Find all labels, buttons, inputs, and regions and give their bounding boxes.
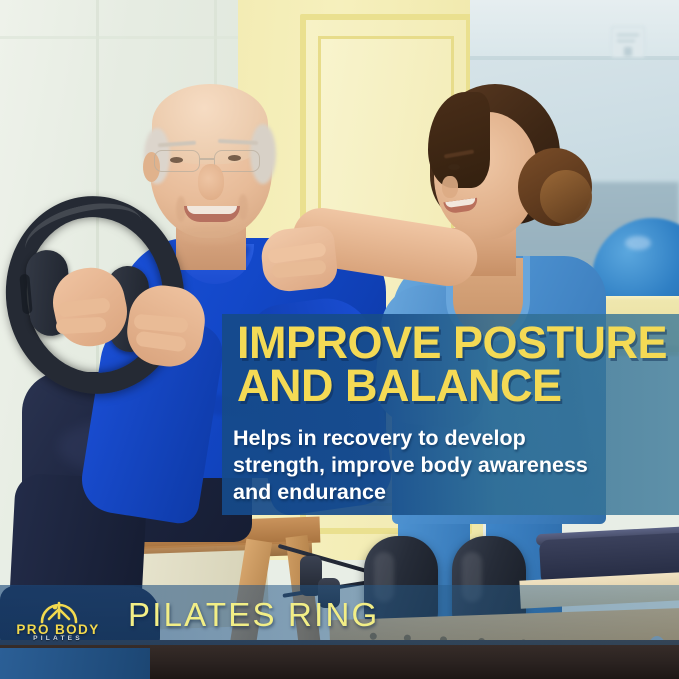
product-name-label: PILATES RING	[128, 596, 379, 634]
instructor-ponytail-highlight	[540, 170, 592, 224]
man-nose	[198, 164, 224, 200]
product-marketing-image: IMPROVE POSTURE AND BALANCE Helps in rec…	[0, 0, 679, 679]
wall-seam-horizontal	[0, 36, 250, 39]
instructor-nose	[442, 176, 458, 198]
headline: IMPROVE POSTURE AND BALANCE	[237, 322, 679, 408]
far-wall-top	[470, 0, 679, 58]
instructor-eye	[448, 164, 460, 170]
brand-tagline: PILATES	[10, 635, 106, 642]
blue-mat	[0, 648, 150, 679]
man-smile	[184, 206, 240, 222]
subcopy: Helps in recovery to develop strength, i…	[233, 425, 663, 506]
mirror-edge	[470, 56, 679, 60]
subcopy-line-1: Helps in recovery to develop	[233, 425, 663, 452]
subcopy-line-2: strength, improve body awareness	[233, 452, 663, 479]
wall-mounted-item	[611, 26, 645, 58]
exercise-ball-highlight	[625, 236, 651, 250]
subcopy-line-3: and endurance	[233, 479, 663, 506]
brand-logo: PRO BODY PILATES	[10, 597, 106, 643]
headline-line-2: AND BALANCE	[237, 365, 679, 408]
